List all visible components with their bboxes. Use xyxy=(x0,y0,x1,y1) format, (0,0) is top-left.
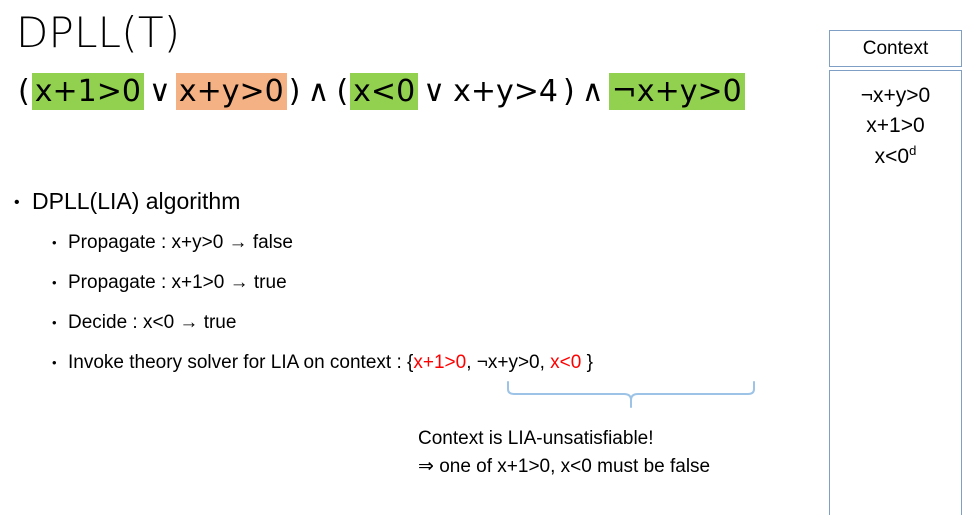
context-table-body: ¬x+y>0 x+1>0 x<0d xyxy=(829,70,962,515)
context-row: x<0d xyxy=(830,142,961,172)
bullet-marker-icon: • xyxy=(52,355,68,371)
formula-line: (x+1>0∨x+y>0)∧(x<0∨x+y>4)∧¬x+y>0 xyxy=(16,74,745,110)
context-table-header-label: Context xyxy=(863,38,928,60)
context-table-header: Context xyxy=(829,30,962,67)
bullet-label: Decide : x<0 → true xyxy=(68,312,236,333)
context-row-sup: d xyxy=(909,143,916,158)
bullet-invoke-theory-solver: •Invoke theory solver for LIA on context… xyxy=(52,352,593,375)
formula-and-2: ∧ xyxy=(577,74,609,109)
note-line-unsatisfiable: Context is LIA-unsatisfiable! xyxy=(418,427,654,451)
bullet-propagate-x-plus-y: •Propagate : x+y>0 → false xyxy=(52,232,293,255)
formula-term-neg-x-plus-y-gt-0: ¬x+y>0 xyxy=(609,73,745,110)
formula-and-1: ∧ xyxy=(302,74,334,109)
formula-term-x-lt-0: x<0 xyxy=(350,73,418,110)
formula-open-paren-1: ( xyxy=(16,74,32,109)
bullet-label: DPLL(LIA) algorithm xyxy=(32,188,240,214)
slide-canvas: DPLL(T) (x+1>0∨x+y>0)∧(x<0∨x+y>4)∧¬x+y>0… xyxy=(0,0,975,505)
formula-or-1: ∨ xyxy=(144,74,176,109)
bullet-label: Propagate : x+y>0 → false xyxy=(68,232,293,253)
context-row-literal: x<0 xyxy=(875,145,909,168)
note-line-implication: ⇒ one of x+1>0, x<0 must be false xyxy=(418,455,710,479)
bullet-propagate-x-plus-1: •Propagate : x+1>0 → true xyxy=(52,272,287,295)
formula-close-paren-2: ) xyxy=(561,74,577,109)
formula-term-x-plus-y-gt-4: x+y>4 xyxy=(450,73,561,110)
bullet-marker-icon: • xyxy=(14,193,32,212)
bullet-marker-icon: • xyxy=(52,275,68,291)
underbrace-icon xyxy=(505,381,760,409)
bullet-label: Propagate : x+1>0 → true xyxy=(68,272,287,293)
context-row: ¬x+y>0 xyxy=(830,81,961,111)
bullet-marker-icon: • xyxy=(52,315,68,331)
invoke-suffix: } xyxy=(587,352,593,373)
invoke-comma-1: , xyxy=(466,352,471,373)
bullet-dpll-lia-algorithm: •DPLL(LIA) algorithm xyxy=(14,188,240,216)
invoke-prefix: Invoke theory solver for LIA on context … xyxy=(68,352,413,373)
invoke-set-item-1: x+1>0 xyxy=(413,352,466,373)
formula-term-x-plus-1-gt-0: x+1>0 xyxy=(32,73,144,110)
invoke-set-item-3: x<0 xyxy=(550,352,581,373)
bullet-decide-x-lt-0: •Decide : x<0 → true xyxy=(52,312,236,335)
formula-close-paren-1: ) xyxy=(287,74,303,109)
formula-term-x-plus-y-gt-0: x+y>0 xyxy=(176,73,287,110)
page-title: DPLL(T) xyxy=(16,10,180,56)
context-row-literal: x+1>0 xyxy=(866,114,924,137)
formula-or-2: ∨ xyxy=(418,74,450,109)
invoke-set-item-2: ¬x+y>0 xyxy=(477,352,540,373)
invoke-comma-2: , xyxy=(540,352,545,373)
bullet-marker-icon: • xyxy=(52,235,68,251)
context-row-literal: ¬x+y>0 xyxy=(861,84,930,107)
context-row: x+1>0 xyxy=(830,111,961,141)
formula-open-paren-2: ( xyxy=(334,74,350,109)
